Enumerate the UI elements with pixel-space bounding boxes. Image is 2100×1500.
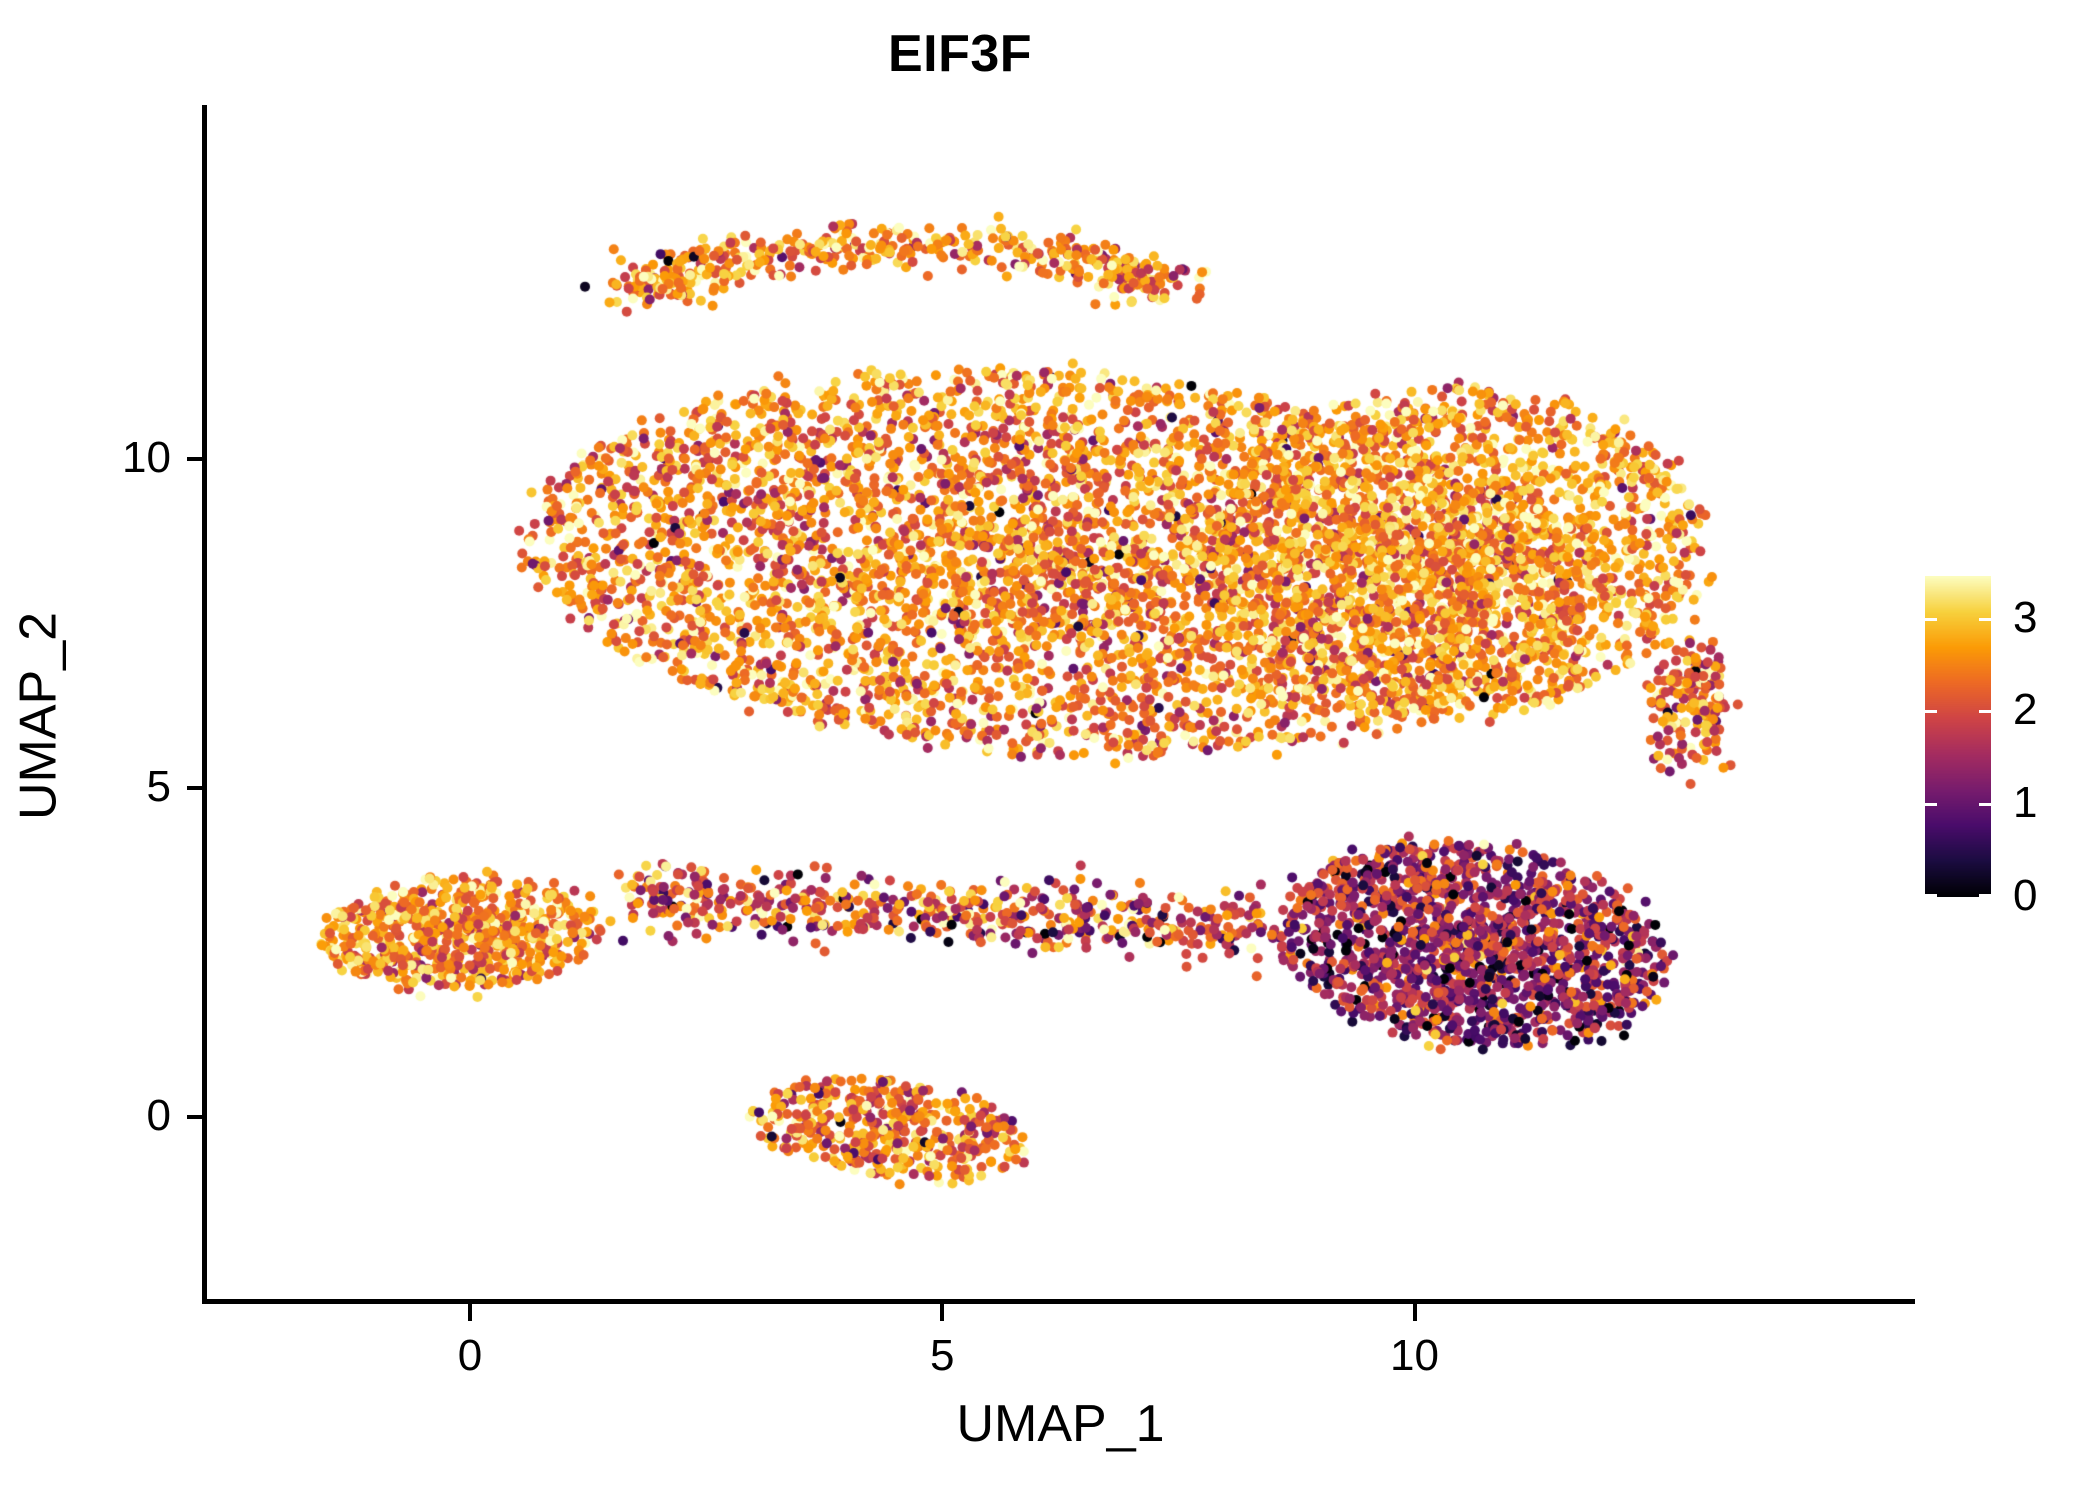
umap-scatter-canvas [206, 105, 1915, 1302]
colorbar-label: 3 [2013, 596, 2037, 640]
page-title: EIF3F [0, 28, 1920, 80]
y-tick-mark [187, 786, 204, 790]
colorbar-tick-mark [1925, 803, 1937, 806]
colorbar-tick-mark [1979, 803, 1991, 806]
x-tick-mark [940, 1304, 944, 1321]
colorbar-gradient [1925, 576, 1991, 897]
y-axis-title: UMAP_2 [13, 118, 65, 1315]
x-tick-label: 5 [842, 1334, 1042, 1378]
y-axis-line [202, 105, 207, 1302]
colorbar-tick-mark [1979, 894, 1991, 897]
colorbar-label: 2 [2013, 688, 2037, 732]
colorbar-label: 0 [2013, 874, 2037, 918]
colorbar-tick-mark [1925, 618, 1937, 621]
x-axis-line [202, 1299, 1915, 1304]
y-tick-mark [187, 457, 204, 461]
y-tick-mark [187, 1115, 204, 1119]
colorbar-tick-mark [1979, 618, 1991, 621]
colorbar-tick-mark [1925, 710, 1937, 713]
x-tick-mark [468, 1304, 472, 1321]
figure-root: EIF3F 0510 0510 UMAP_1 UMAP_2 3210 [0, 0, 2100, 1500]
colorbar-tick-mark [1979, 710, 1991, 713]
x-tick-label: 0 [370, 1334, 570, 1378]
x-axis-title: UMAP_1 [206, 1398, 1915, 1450]
colorbar-label: 1 [2013, 781, 2037, 825]
x-tick-label: 10 [1315, 1334, 1515, 1378]
plot-panel [206, 105, 1915, 1302]
x-tick-mark [1413, 1304, 1417, 1321]
colorbar-legend: 3210 [1925, 576, 2085, 900]
colorbar-tick-mark [1925, 894, 1937, 897]
